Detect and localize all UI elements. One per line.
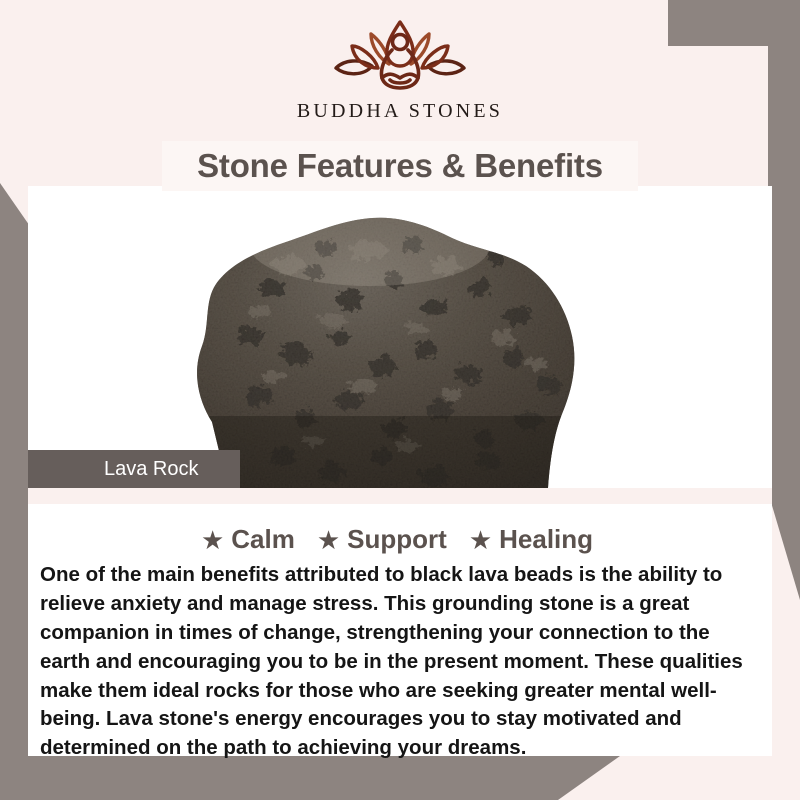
feature-label-calm: Calm	[231, 524, 295, 555]
product-image	[28, 186, 772, 488]
page-title: Stone Features & Benefits	[197, 147, 603, 185]
title-banner: Stone Features & Benefits	[162, 141, 638, 191]
feature-item-calm: ★ Calm	[201, 524, 295, 555]
star-icon: ★	[201, 527, 224, 553]
star-icon: ★	[317, 527, 340, 553]
product-image-panel	[28, 186, 772, 488]
feature-list: ★ Calm ★ Support ★ Healing	[36, 524, 758, 555]
feature-label-healing: Healing	[499, 524, 593, 555]
star-icon: ★	[469, 527, 492, 553]
description-text: One of the main benefits attributed to b…	[36, 561, 758, 763]
brand-name: BUDDHA STONES	[297, 100, 503, 123]
feature-label-support: Support	[347, 524, 447, 555]
lava-rock-illustration	[80, 186, 720, 488]
lotus-meditation-figure-icon	[326, 16, 474, 98]
brand-logo: BUDDHA STONES	[0, 0, 800, 140]
frame-bar-left	[0, 183, 30, 800]
panel-separator	[28, 488, 772, 504]
product-caption-banner: Lava Rock	[28, 450, 240, 488]
feature-item-healing: ★ Healing	[469, 524, 593, 555]
infographic-card: BUDDHA STONES Stone Features & Benefits	[0, 0, 800, 800]
feature-item-support: ★ Support	[317, 524, 447, 555]
description-panel: ★ Calm ★ Support ★ Healing One of the ma…	[28, 504, 772, 756]
product-caption-label: Lava Rock	[28, 458, 199, 481]
